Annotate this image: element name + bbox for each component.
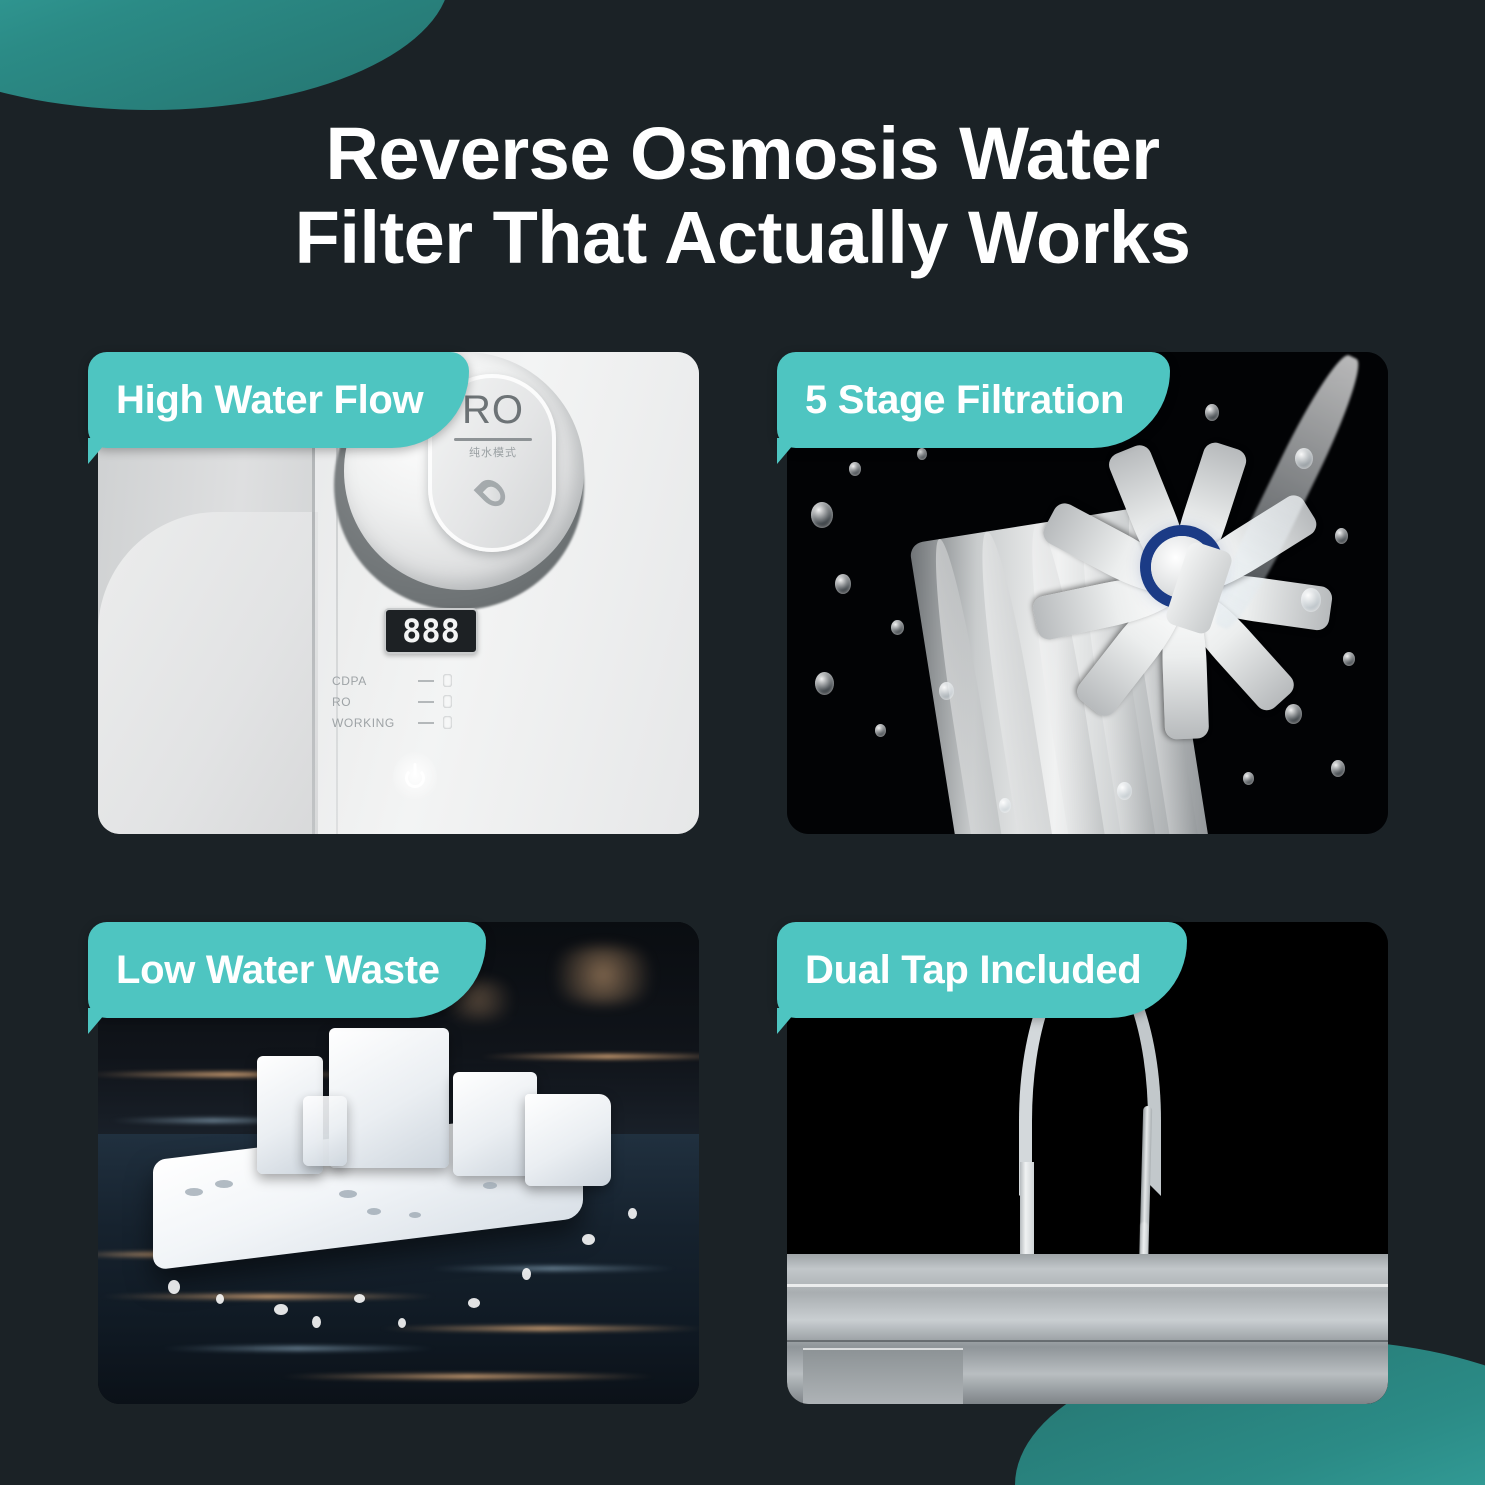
sink-basin-edge	[803, 1348, 963, 1404]
water-ripple	[378, 1326, 699, 1331]
feature-card-dual-tap-included[interactable]: Dual Tap Included	[787, 922, 1388, 1404]
card-label-text: Dual Tap Included	[805, 948, 1141, 993]
water-droplet	[1331, 760, 1345, 777]
card-label-text: High Water Flow	[116, 378, 423, 423]
water-splash	[274, 1304, 288, 1315]
card-label-banner-high-water-flow: High Water Flow	[88, 352, 469, 448]
plastic-manifold-part	[153, 1022, 623, 1272]
water-droplet	[999, 798, 1011, 813]
status-dash-icon	[418, 722, 434, 724]
water-droplet	[1295, 448, 1313, 469]
water-droplet	[849, 462, 861, 476]
feature-card-high-water-flow[interactable]: RO 纯水模式 888 CDPA RO	[98, 352, 699, 834]
page-title: Reverse Osmosis Water Filter That Actual…	[0, 112, 1485, 281]
water-splash	[168, 1280, 180, 1294]
water-splash	[468, 1298, 480, 1308]
water-splash	[354, 1294, 365, 1303]
manifold-hole	[215, 1180, 233, 1188]
manifold-block	[525, 1094, 611, 1186]
led-display: 888	[384, 608, 478, 654]
manifold-hole	[185, 1188, 203, 1196]
status-dash-icon	[418, 701, 434, 703]
status-row: CDPA	[332, 670, 492, 691]
water-ripple	[278, 1374, 658, 1379]
status-led-icon	[443, 674, 452, 687]
water-splash	[582, 1234, 595, 1245]
decorative-blob-top-left	[0, 0, 450, 110]
water-splash	[398, 1318, 406, 1328]
power-button-icon[interactable]	[393, 752, 437, 804]
card-label-banner-dual-tap-included: Dual Tap Included	[777, 922, 1187, 1018]
card-label-text: Low Water Waste	[116, 948, 440, 993]
water-droplet	[1117, 782, 1132, 800]
water-droplet	[1243, 772, 1254, 785]
water-droplet	[875, 724, 886, 737]
ro-divider-rule	[454, 438, 532, 441]
water-droplet	[835, 574, 851, 594]
water-splash	[522, 1268, 531, 1280]
water-droplet	[815, 672, 834, 695]
status-dash-icon	[418, 680, 434, 682]
sink-countertop	[787, 1254, 1388, 1404]
status-led-icon	[443, 695, 452, 708]
water-droplet	[1205, 404, 1219, 421]
water-droplet	[917, 448, 927, 460]
water-droplet	[939, 682, 954, 700]
feature-card-5-stage-filtration[interactable]: 5 Stage Filtration	[787, 352, 1388, 834]
status-row: WORKING	[332, 712, 492, 733]
feature-card-low-water-waste[interactable]: Low Water Waste	[98, 922, 699, 1404]
countertop-shadow-line	[787, 1340, 1388, 1342]
water-droplet	[891, 620, 904, 635]
feature-card-grid: RO 纯水模式 888 CDPA RO	[98, 352, 1388, 1404]
infographic-canvas: Reverse Osmosis Water Filter That Actual…	[0, 0, 1485, 1485]
water-splash	[312, 1316, 321, 1328]
water-droplet	[1285, 704, 1302, 724]
countertop-highlight	[787, 1284, 1388, 1287]
water-droplet	[1343, 652, 1355, 666]
water-droplet	[1335, 528, 1348, 544]
card-label-banner-low-water-waste: Low Water Waste	[88, 922, 486, 1018]
headline-line-2: Filter That Actually Works	[295, 196, 1191, 279]
power-glyph	[405, 768, 425, 788]
bokeh-light	[538, 946, 668, 1004]
appliance-door-panel	[98, 394, 312, 834]
headline-line-1: Reverse Osmosis Water	[325, 112, 1159, 195]
manifold-block	[303, 1096, 347, 1166]
water-droplet	[1301, 588, 1321, 612]
status-label: CDPA	[332, 674, 418, 688]
led-display-value: 888	[402, 615, 460, 647]
manifold-block	[329, 1028, 449, 1168]
status-row: RO	[332, 691, 492, 712]
manifold-hole	[339, 1190, 357, 1198]
manifold-hole	[483, 1182, 497, 1189]
ro-mode-sublabel: 纯水模式	[450, 444, 536, 460]
water-splash	[628, 1208, 637, 1219]
status-indicator-list: CDPA RO WORKING	[332, 670, 492, 733]
manifold-hole	[367, 1208, 381, 1215]
card-label-text: 5 Stage Filtration	[805, 378, 1124, 423]
water-splash	[216, 1294, 224, 1304]
manifold-hole	[409, 1212, 421, 1218]
water-ripple	[98, 1294, 438, 1299]
card-label-banner-5-stage-filtration: 5 Stage Filtration	[777, 352, 1170, 448]
water-droplet	[811, 502, 833, 528]
status-label: RO	[332, 695, 418, 709]
water-ripple	[158, 1346, 438, 1351]
status-led-icon	[443, 716, 452, 729]
status-label: WORKING	[332, 716, 418, 730]
